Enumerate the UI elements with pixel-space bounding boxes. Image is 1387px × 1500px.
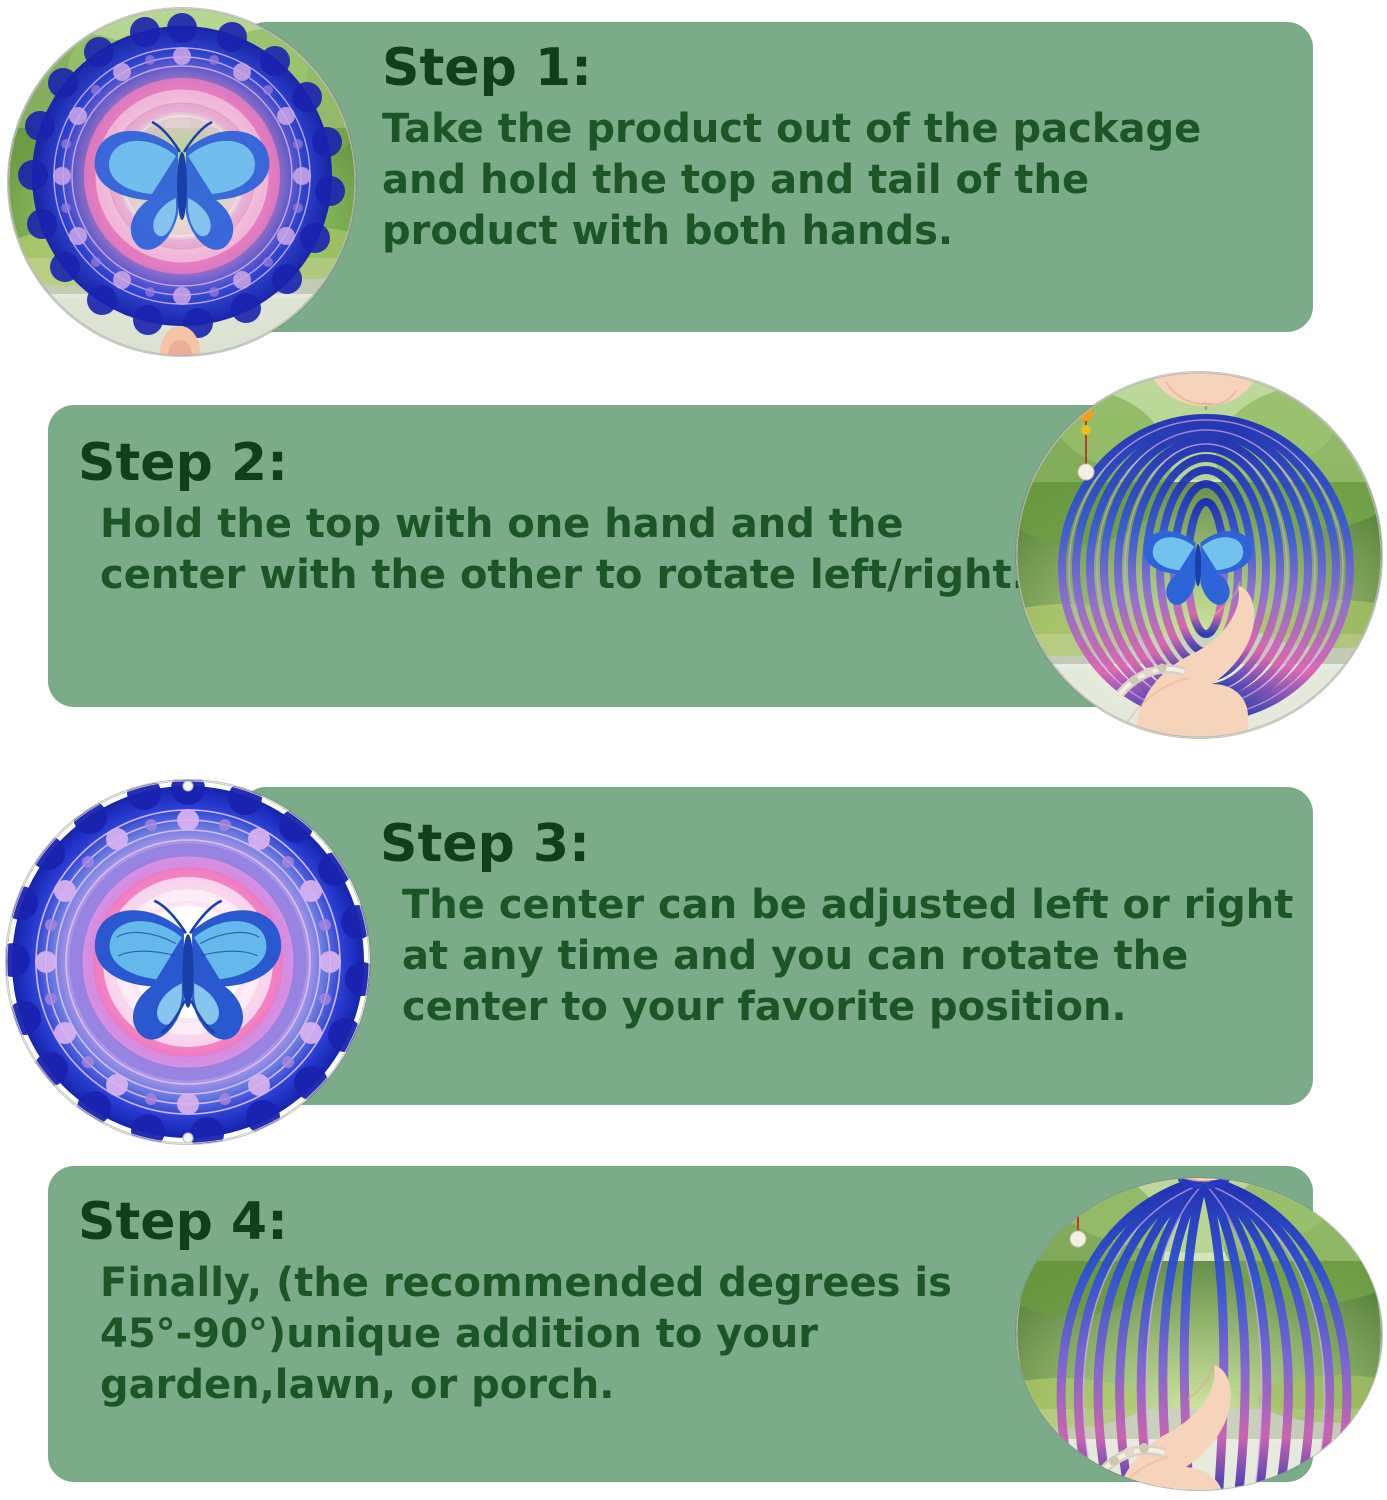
step-4-body: Finally, (the recommended degrees is 45°…	[100, 1258, 952, 1412]
step-2-title: Step 2:	[78, 437, 1027, 489]
step-1-body-line-2: and hold the top and tail of the	[382, 155, 1201, 206]
step-1-body: Take the product out of the package and …	[382, 104, 1201, 258]
step-4-text: Step 4: Finally, (the recommended degree…	[78, 1196, 952, 1412]
step-4-title: Step 4:	[78, 1196, 952, 1248]
step-2-text: Step 2: Hold the top with one hand and t…	[78, 437, 1027, 601]
wind-spinner-flat-product-photo	[6, 780, 370, 1144]
step-3-body-line-2: at any time and you can rotate the	[402, 931, 1293, 982]
step-1-title: Step 1:	[382, 42, 1201, 94]
step-4-body-line-1: Finally, (the recommended degrees is	[100, 1258, 952, 1309]
step-3-text: Step 3: The center can be adjusted left …	[380, 818, 1293, 1034]
step-1-body-line-1: Take the product out of the package	[382, 104, 1201, 155]
step-3-body: The center can be adjusted left or right…	[402, 880, 1293, 1034]
step-2-body: Hold the top with one hand and the cente…	[100, 499, 1027, 601]
step-3-body-line-1: The center can be adjusted left or right	[402, 880, 1293, 931]
instruction-sheet: Step 1: Take the product out of the pack…	[0, 0, 1387, 1500]
wind-spinner-rotating-photo	[1016, 372, 1382, 738]
step-4-body-line-3: garden,lawn, or porch.	[100, 1360, 952, 1411]
step-1-text: Step 1: Take the product out of the pack…	[382, 42, 1201, 258]
step-2-body-line-1: Hold the top with one hand and the	[100, 499, 1027, 550]
step-3-body-line-3: center to your favorite position.	[402, 982, 1293, 1033]
step-3-title: Step 3:	[380, 818, 1293, 870]
step-1-body-line-3: product with both hands.	[382, 206, 1201, 257]
wind-spinner-held-in-hand-photo	[8, 8, 356, 356]
wind-spinner-fully-opened-photo	[1016, 1178, 1382, 1490]
step-2-body-line-2: center with the other to rotate left/rig…	[100, 550, 1027, 601]
step-4-body-line-2: 45°-90°)unique addition to your	[100, 1309, 952, 1360]
